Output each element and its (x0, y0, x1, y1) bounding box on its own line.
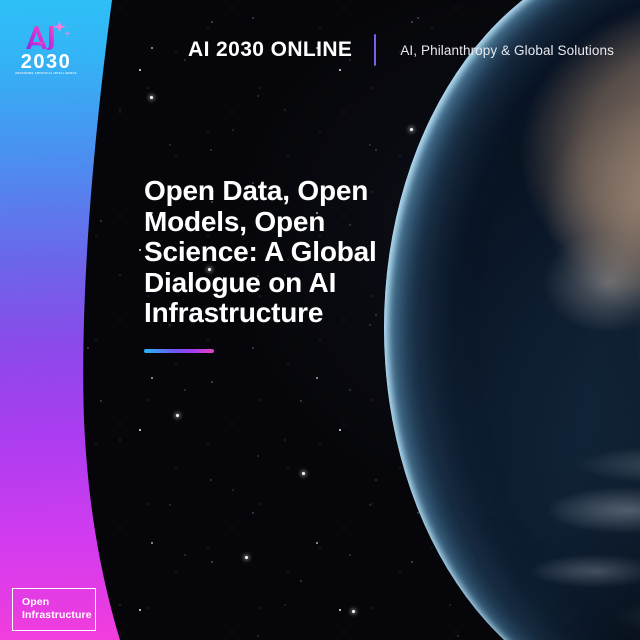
slide-canvas: 2030 ADVANCING ARTIFICIAL INTELLIGENCE A… (0, 0, 640, 640)
slide-header: AI 2030 ONLINE AI, Philanthropy & Global… (188, 34, 614, 66)
ai-monogram-icon (18, 18, 74, 52)
bright-star (410, 128, 413, 131)
sparkle-icon (53, 21, 70, 37)
topic-badge: Open Infrastructure (12, 588, 96, 631)
bright-star (470, 330, 473, 333)
title-block: Open Data, Open Models, Open Science: A … (144, 176, 444, 353)
header-divider (374, 34, 376, 66)
bright-star (150, 96, 153, 99)
ai-2030-logo[interactable]: 2030 ADVANCING ARTIFICIAL INTELLIGENCE (14, 18, 78, 76)
logo-tagline: ADVANCING ARTIFICIAL INTELLIGENCE (14, 72, 78, 76)
header-tagline: AI, Philanthropy & Global Solutions (400, 43, 614, 58)
page-title: Open Data, Open Models, Open Science: A … (144, 176, 444, 329)
bright-star (245, 556, 248, 559)
logo-year: 2030 (14, 53, 78, 71)
bright-star (302, 472, 305, 475)
bright-star (352, 610, 355, 613)
title-accent-bar (144, 349, 214, 353)
bright-star (176, 414, 179, 417)
brand-title: AI 2030 ONLINE (188, 38, 352, 62)
